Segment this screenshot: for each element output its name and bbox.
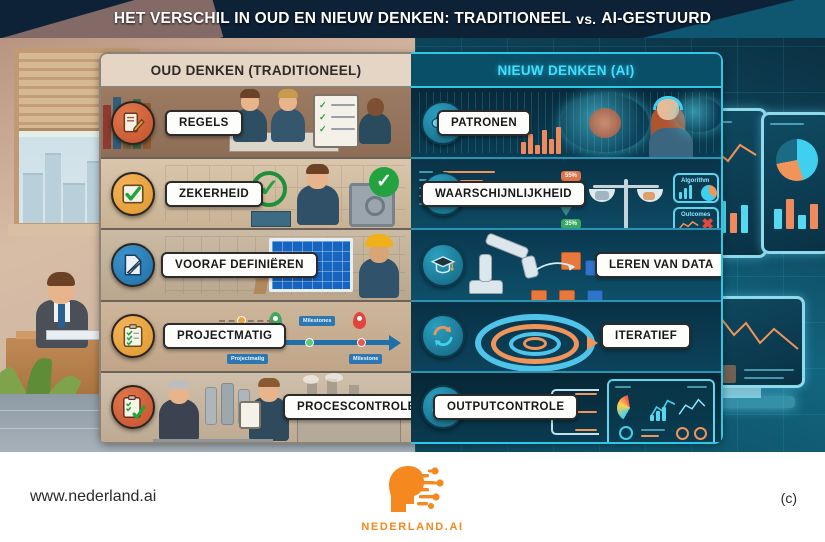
row-label-pill[interactable]: ZEKERHEID <box>165 181 263 207</box>
table-row[interactable]: LEREN VAN DATA <box>411 230 721 301</box>
table-row[interactable]: PROCESCONTROLE <box>101 373 411 442</box>
clipboard-check-icon <box>120 394 146 420</box>
header-old-thinking: OUD DENKEN (TRADITIONEEL) <box>99 52 411 88</box>
row-icon-badge <box>421 314 465 358</box>
nederland-ai-head-icon <box>378 460 448 520</box>
table-row[interactable]: 55% 35% Algorithm <box>411 159 721 230</box>
table-row[interactable]: ✓ ✓ ✓ <box>101 88 411 159</box>
map-pin-icon <box>353 312 366 329</box>
row-label-pill[interactable]: PROJECTMATIG <box>163 323 286 349</box>
brand-logo-text: NEDERLAND.AI <box>338 521 488 533</box>
output-dashboard <box>607 379 715 442</box>
graduation-cap-icon <box>430 252 456 278</box>
comparison-table: OUD DENKEN (TRADITIONEEL) NIEUW DENKEN (… <box>99 52 723 444</box>
row-icon-badge <box>111 385 155 429</box>
ai-wall-screen-2 <box>761 112 825 254</box>
row-icon-badge <box>111 172 155 216</box>
table-row[interactable]: ITERATIEF <box>411 302 721 373</box>
probability-high-badge: 55% <box>561 171 581 181</box>
table-row[interactable]: VOORAF DEFINIËREN <box>101 230 411 301</box>
table-row[interactable]: ✓ ✓ <box>101 159 411 230</box>
row-label-pill[interactable]: OUTPUTCONTROLE <box>433 394 578 420</box>
header-new-thinking: NIEUW DENKEN (AI) <box>411 52 723 88</box>
table-row[interactable]: PATRONEN <box>411 88 721 159</box>
row-label-pill[interactable]: VOORAF DEFINIËREN <box>161 252 318 278</box>
gauge-icon <box>617 395 643 421</box>
row-label-pill[interactable]: PROCESCONTROLE <box>283 394 411 420</box>
page-title: HET VERSCHIL IN OUD EN NIEUW DENKEN: TRA… <box>0 0 825 38</box>
row-label-pill[interactable]: WAARSCHIJNLIJKHEID <box>421 181 586 207</box>
timeline-project-label: Projectmatig <box>227 354 268 364</box>
title-main: HET VERSCHIL IN OUD EN NIEUW DENKEN: TRA… <box>114 10 571 28</box>
row-icon-badge <box>111 314 155 358</box>
probability-low-badge: 35% <box>561 219 581 229</box>
row-label-pill[interactable]: PATRONEN <box>437 110 531 136</box>
row-label-pill[interactable]: REGELS <box>165 110 243 136</box>
row-label-pill[interactable]: ITERATIEF <box>601 323 691 349</box>
checklist-board: ✓ ✓ ✓ <box>313 94 359 148</box>
checkbox-check-icon <box>120 181 146 207</box>
algorithm-panel: Algorithm <box>673 173 719 203</box>
column-new-thinking: PATRONEN <box>411 88 723 444</box>
table-header-row: OUD DENKEN (TRADITIONEEL) NIEUW DENKEN (… <box>99 52 723 88</box>
table-row[interactable]: OUTPUTCONTROLE <box>411 373 721 442</box>
table-row[interactable]: Milestones Projectmatig Milestone <box>101 302 411 373</box>
clipboard-list-icon <box>120 323 146 349</box>
column-old-thinking: ✓ ✓ ✓ <box>99 88 411 444</box>
refresh-cycle-icon <box>430 323 456 349</box>
document-pencil-icon <box>120 110 146 136</box>
blueprint-ruler-icon <box>120 252 146 278</box>
row-label-pill[interactable]: LEREN VAN DATA <box>595 252 721 278</box>
title-bar: HET VERSCHIL IN OUD EN NIEUW DENKEN: TRA… <box>0 0 825 38</box>
copyright-mark: (c) <box>781 490 797 506</box>
outcomes-panel: Outcomes ✖ <box>673 207 719 230</box>
website-url[interactable]: www.nederland.ai <box>30 488 156 506</box>
title-connector: vs. <box>576 11 596 27</box>
row-icon-badge <box>111 101 155 145</box>
table-body: ✓ ✓ ✓ <box>99 88 723 444</box>
row-icon-badge <box>421 243 465 287</box>
algorithm-label: Algorithm <box>677 176 713 186</box>
timeline-milestones-label: Milestones <box>299 316 335 326</box>
title-tail: AI-GESTUURD <box>601 10 711 28</box>
outcomes-label: Outcomes <box>677 210 714 220</box>
footer-bar: www.nederland.ai NEDERLAND.AI (c) <box>0 452 825 542</box>
check-circle-icon: ✓ <box>369 167 399 197</box>
infographic-root: HET VERSCHIL IN OUD EN NIEUW DENKEN: TRA… <box>0 0 825 542</box>
brand-logo[interactable]: NEDERLAND.AI <box>338 460 488 533</box>
timeline-milestone-label: Milestone <box>349 354 382 364</box>
hard-hat-icon <box>365 234 393 247</box>
row-icon-badge <box>111 243 155 287</box>
